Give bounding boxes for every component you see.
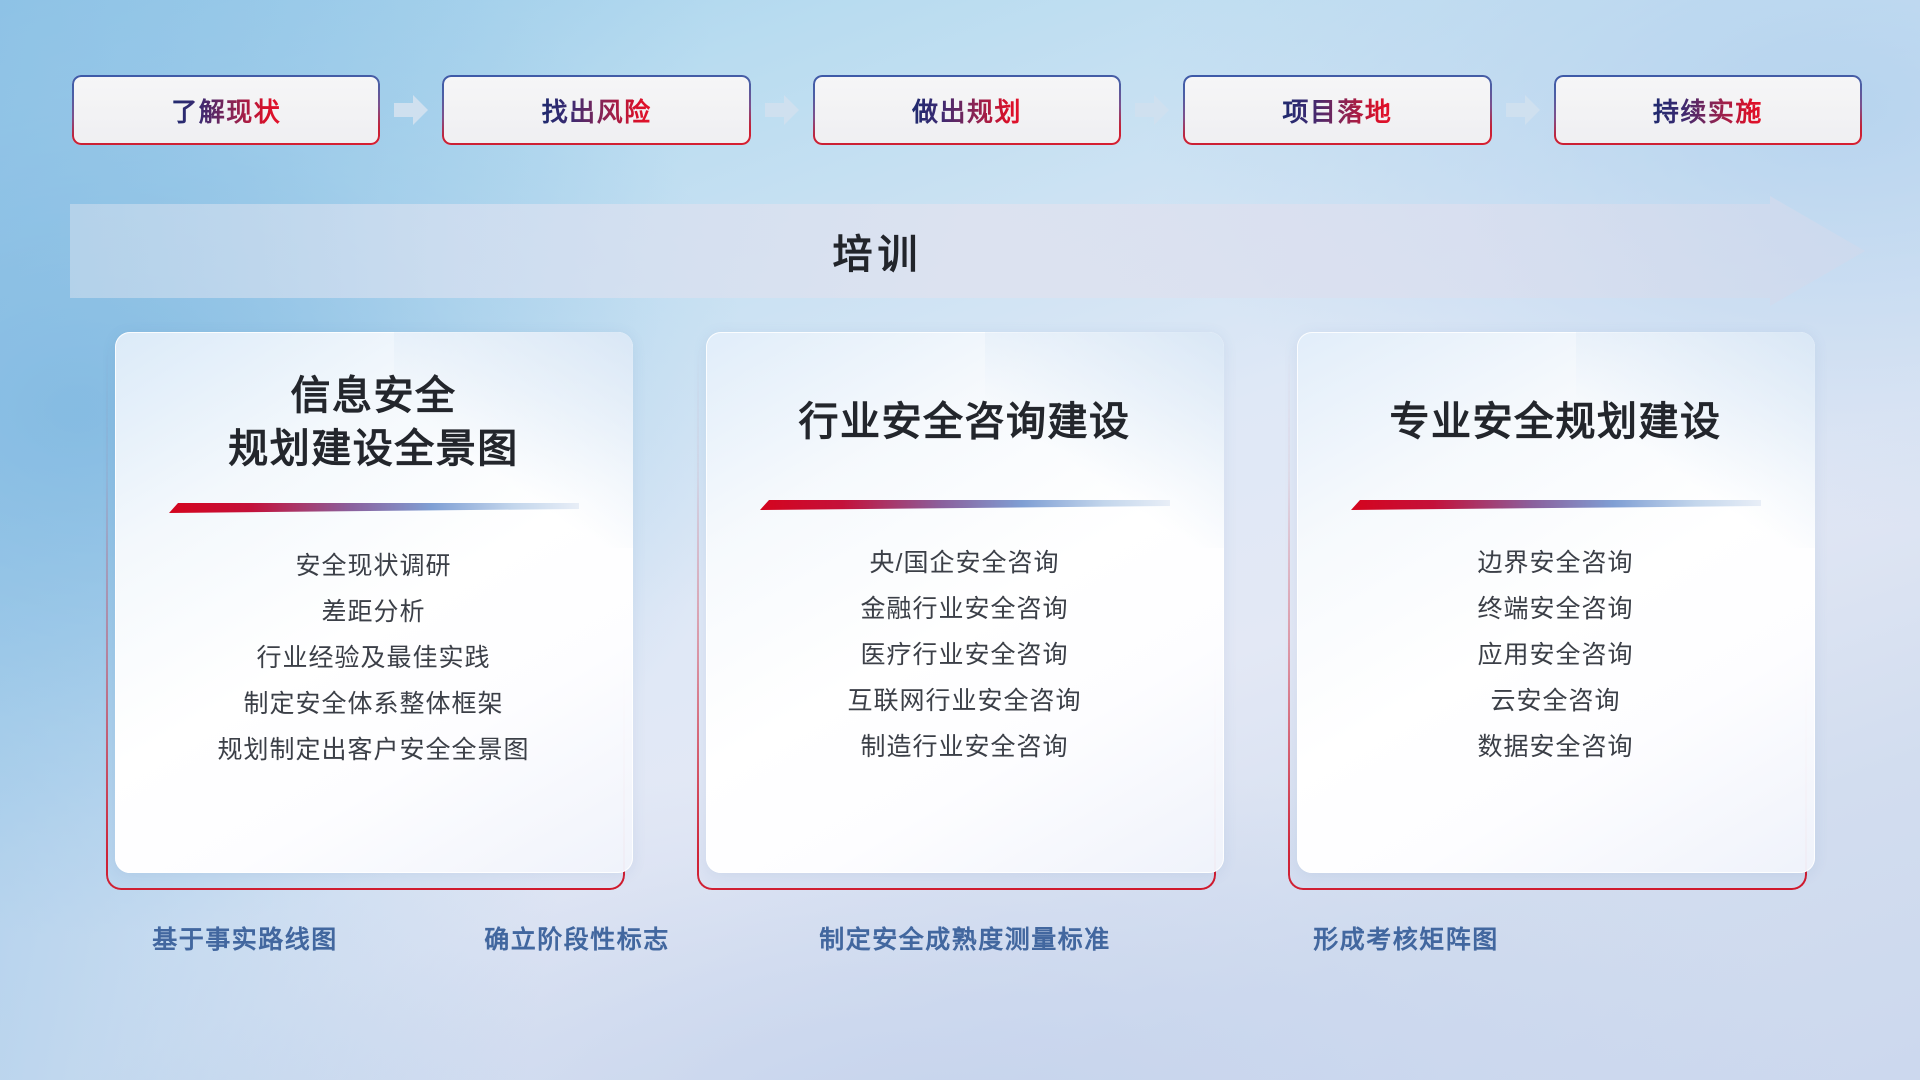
training-banner-label: 培训 [70, 196, 1865, 306]
arrow-right-icon [380, 90, 442, 130]
step-box-4[interactable]: 项目落地 [1183, 75, 1491, 145]
gradient-rule-icon [169, 502, 579, 514]
step-label-4: 项目落地 [1282, 92, 1392, 129]
card-title: 行业安全咨询建设 [706, 396, 1224, 449]
list-item: 云安全咨询 [1297, 679, 1815, 725]
card-list: 安全现状调研 差距分析 行业经验及最佳实践 制定安全体系整体框架 规划制定出客户… [115, 544, 633, 774]
step-label-3: 做出规划 [912, 92, 1022, 129]
footer-caption-row: 基于事实路线图 确立阶段性标志 制定安全成熟度测量标准 形成考核矩阵图 [0, 920, 1920, 966]
step-label-1: 了解现状 [171, 92, 281, 129]
footer-label-3: 制定安全成熟度测量标准 [819, 920, 1111, 956]
card-3[interactable]: 专业安全规划建设 [1288, 332, 1815, 892]
gradient-rule-icon [760, 499, 1170, 511]
list-item: 数据安全咨询 [1297, 725, 1815, 771]
card-surface: 行业安全咨询建设 [706, 332, 1224, 873]
step-box-5[interactable]: 持续实施 [1554, 75, 1862, 145]
step-box-1[interactable]: 了解现状 [72, 75, 380, 145]
card-1[interactable]: 信息安全 规划建设全景图 [106, 332, 633, 892]
arrow-right-icon [1121, 90, 1183, 130]
card-surface: 专业安全规划建设 [1297, 332, 1815, 873]
list-item: 制造行业安全咨询 [706, 725, 1224, 771]
footer-label-4: 形成考核矩阵图 [1313, 920, 1499, 956]
step-box-3[interactable]: 做出规划 [813, 75, 1121, 145]
card-title: 信息安全 规划建设全景图 [115, 370, 633, 476]
list-item: 金融行业安全咨询 [706, 587, 1224, 633]
list-item: 央/国企安全咨询 [706, 541, 1224, 587]
arrow-right-icon [1492, 90, 1554, 130]
step-label-5: 持续实施 [1653, 92, 1763, 129]
footer-label-2: 确立阶段性标志 [484, 920, 670, 956]
step-box-2[interactable]: 找出风险 [442, 75, 750, 145]
card-2[interactable]: 行业安全咨询建设 [697, 332, 1224, 892]
training-banner: 培训 [70, 196, 1865, 306]
slide-canvas: 了解现状 找出风险 做出规划 项目落地 [0, 0, 1920, 1080]
list-item: 制定安全体系整体框架 [115, 682, 633, 728]
step-label-2: 找出风险 [542, 92, 652, 129]
card-list: 边界安全咨询 终端安全咨询 应用安全咨询 云安全咨询 数据安全咨询 [1297, 541, 1815, 771]
list-item: 行业经验及最佳实践 [115, 636, 633, 682]
card-surface: 信息安全 规划建设全景图 [115, 332, 633, 873]
list-item: 互联网行业安全咨询 [706, 679, 1224, 725]
card-group: 信息安全 规划建设全景图 [0, 332, 1920, 892]
footer-label-1: 基于事实路线图 [152, 920, 338, 956]
card-title: 专业安全规划建设 [1297, 396, 1815, 449]
list-item: 边界安全咨询 [1297, 541, 1815, 587]
process-step-row: 了解现状 找出风险 做出规划 项目落地 [72, 75, 1862, 145]
gradient-rule-icon [1351, 499, 1761, 511]
list-item: 安全现状调研 [115, 544, 633, 590]
list-item: 终端安全咨询 [1297, 587, 1815, 633]
list-item: 医疗行业安全咨询 [706, 633, 1224, 679]
list-item: 差距分析 [115, 590, 633, 636]
card-list: 央/国企安全咨询 金融行业安全咨询 医疗行业安全咨询 互联网行业安全咨询 制造行… [706, 541, 1224, 771]
list-item: 应用安全咨询 [1297, 633, 1815, 679]
arrow-right-icon [751, 90, 813, 130]
list-item: 规划制定出客户安全全景图 [115, 728, 633, 774]
